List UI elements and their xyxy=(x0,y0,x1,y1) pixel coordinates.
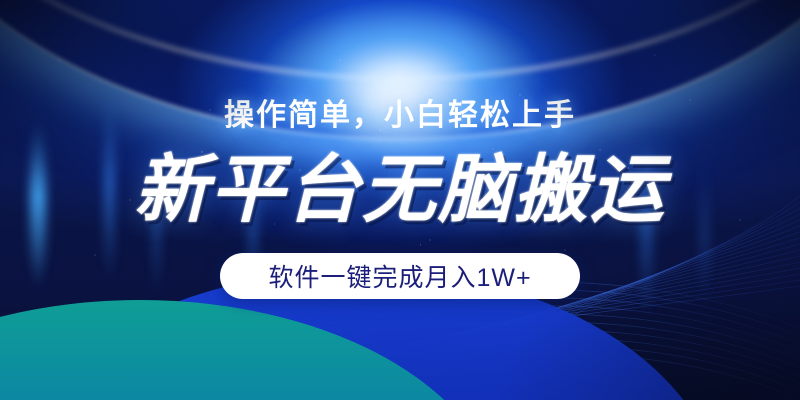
poster-subtitle-top: 操作简单，小白轻松上手 xyxy=(0,90,800,134)
highlight-pill-text: 软件一键完成月入1W+ xyxy=(268,258,531,294)
highlight-pill: 软件一键完成月入1W+ xyxy=(220,253,580,299)
poster-main-title: 新平台无脑搬运 xyxy=(0,148,800,232)
promo-poster: 操作简单，小白轻松上手 新平台无脑搬运 软件一键完成月入1W+ xyxy=(0,0,800,400)
headline-group: 操作简单，小白轻松上手 新平台无脑搬运 软件一键完成月入1W+ xyxy=(0,0,800,400)
